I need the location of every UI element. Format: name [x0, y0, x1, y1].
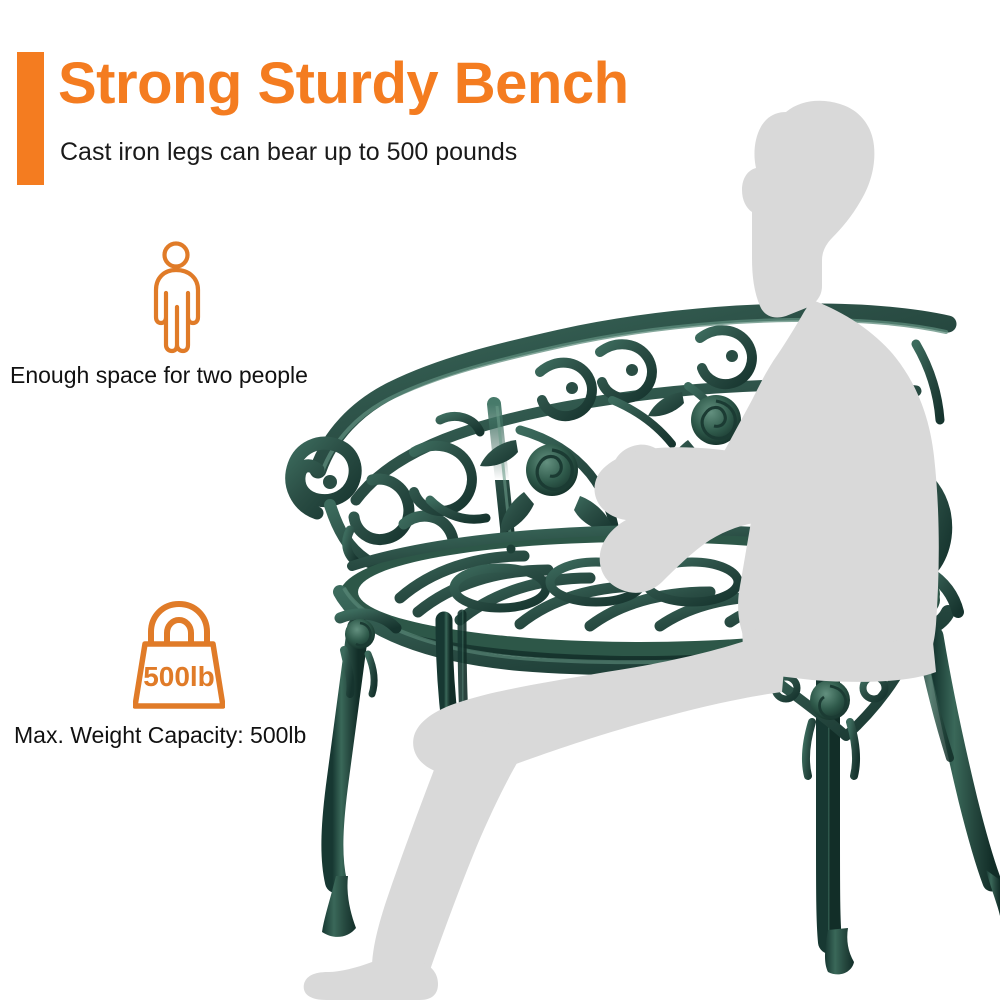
page-subtitle: Cast iron legs can bear up to 500 pounds — [60, 140, 517, 165]
feature-caption-space: Enough space for two people — [10, 364, 308, 387]
feature-caption-capacity: Max. Weight Capacity: 500lb — [14, 724, 306, 747]
bench-leg — [920, 636, 1000, 916]
person-standing-icon — [150, 241, 202, 355]
weight-bag-icon: 500lb — [133, 600, 225, 712]
infographic-canvas: Strong Sturdy Bench Cast iron legs can b… — [0, 0, 1000, 1000]
bench-leg — [752, 653, 906, 974]
bench-leg — [322, 614, 396, 937]
weight-icon-label: 500lb — [143, 661, 215, 692]
page-title: Strong Sturdy Bench — [58, 55, 629, 113]
accent-bar — [17, 52, 44, 185]
